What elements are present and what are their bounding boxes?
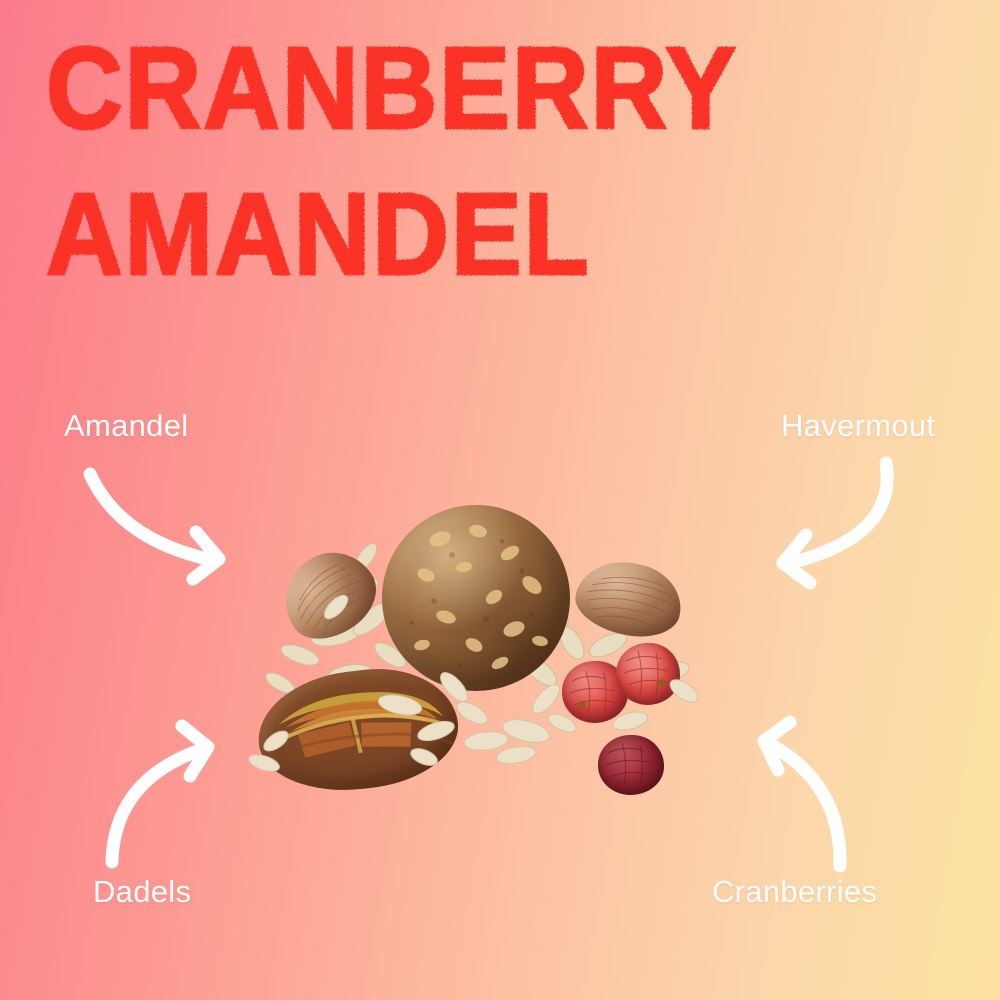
title-line-cranberry: CRANBERRY	[46, 34, 678, 146]
oat-flakes-front	[240, 495, 720, 825]
label-dadels: Dadels	[93, 874, 191, 910]
label-havermout: Havermout	[781, 408, 935, 444]
title-line-amandel: AMANDEL	[46, 180, 678, 292]
product-photo	[240, 495, 720, 825]
arrow-havermout	[783, 463, 887, 583]
label-amandel: Amandel	[64, 408, 188, 444]
product-poster: CRANBERRY AMANDEL	[0, 0, 1000, 1000]
label-cranberries: Cranberries	[712, 874, 877, 910]
arrow-cranberries	[764, 722, 840, 866]
arrow-amandel	[90, 474, 219, 579]
page-title: CRANBERRY AMANDEL	[46, 34, 666, 280]
arrow-dadels	[112, 726, 208, 862]
